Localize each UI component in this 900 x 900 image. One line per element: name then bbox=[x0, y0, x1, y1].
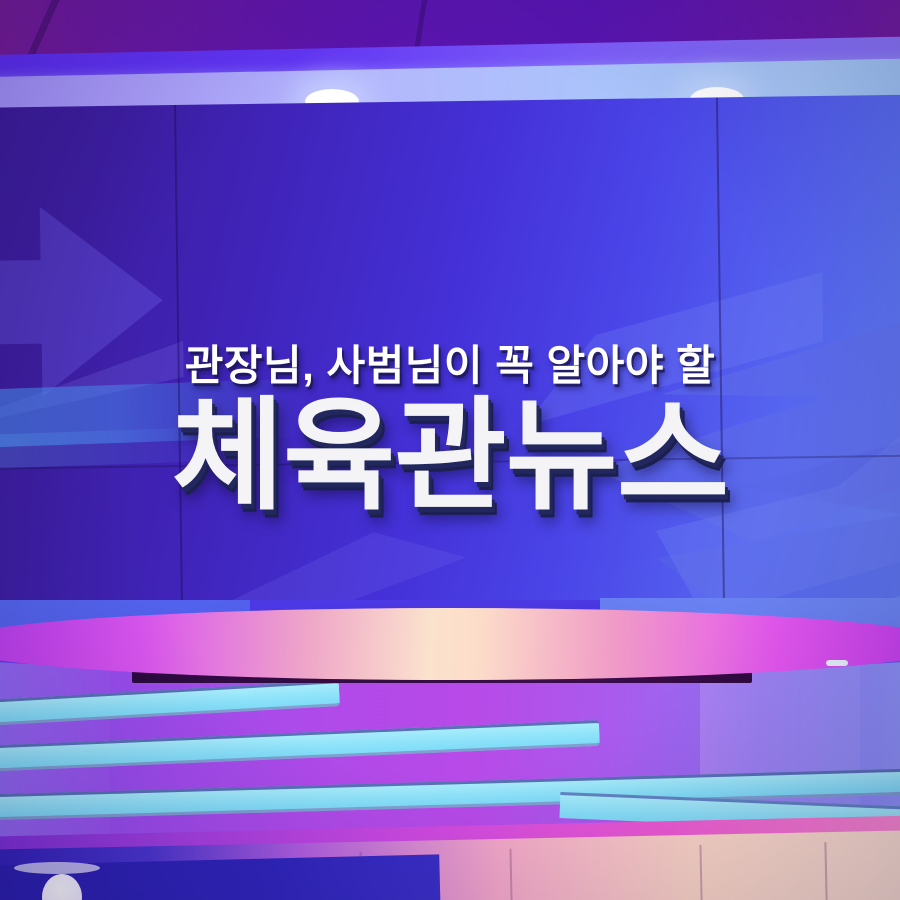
desk-edge-highlight bbox=[826, 660, 848, 666]
news-desk bbox=[0, 0, 900, 900]
floor-tile-seam bbox=[509, 849, 512, 900]
desk-top-surface bbox=[0, 608, 900, 680]
floor-tile-seam bbox=[824, 842, 827, 900]
thumbnail-canvas: 관장님, 사범님이 꼭 알아야 할 체육관뉴스 bbox=[0, 0, 900, 900]
floor-tile-seam bbox=[699, 845, 702, 900]
floor-orb-glow bbox=[14, 862, 100, 874]
